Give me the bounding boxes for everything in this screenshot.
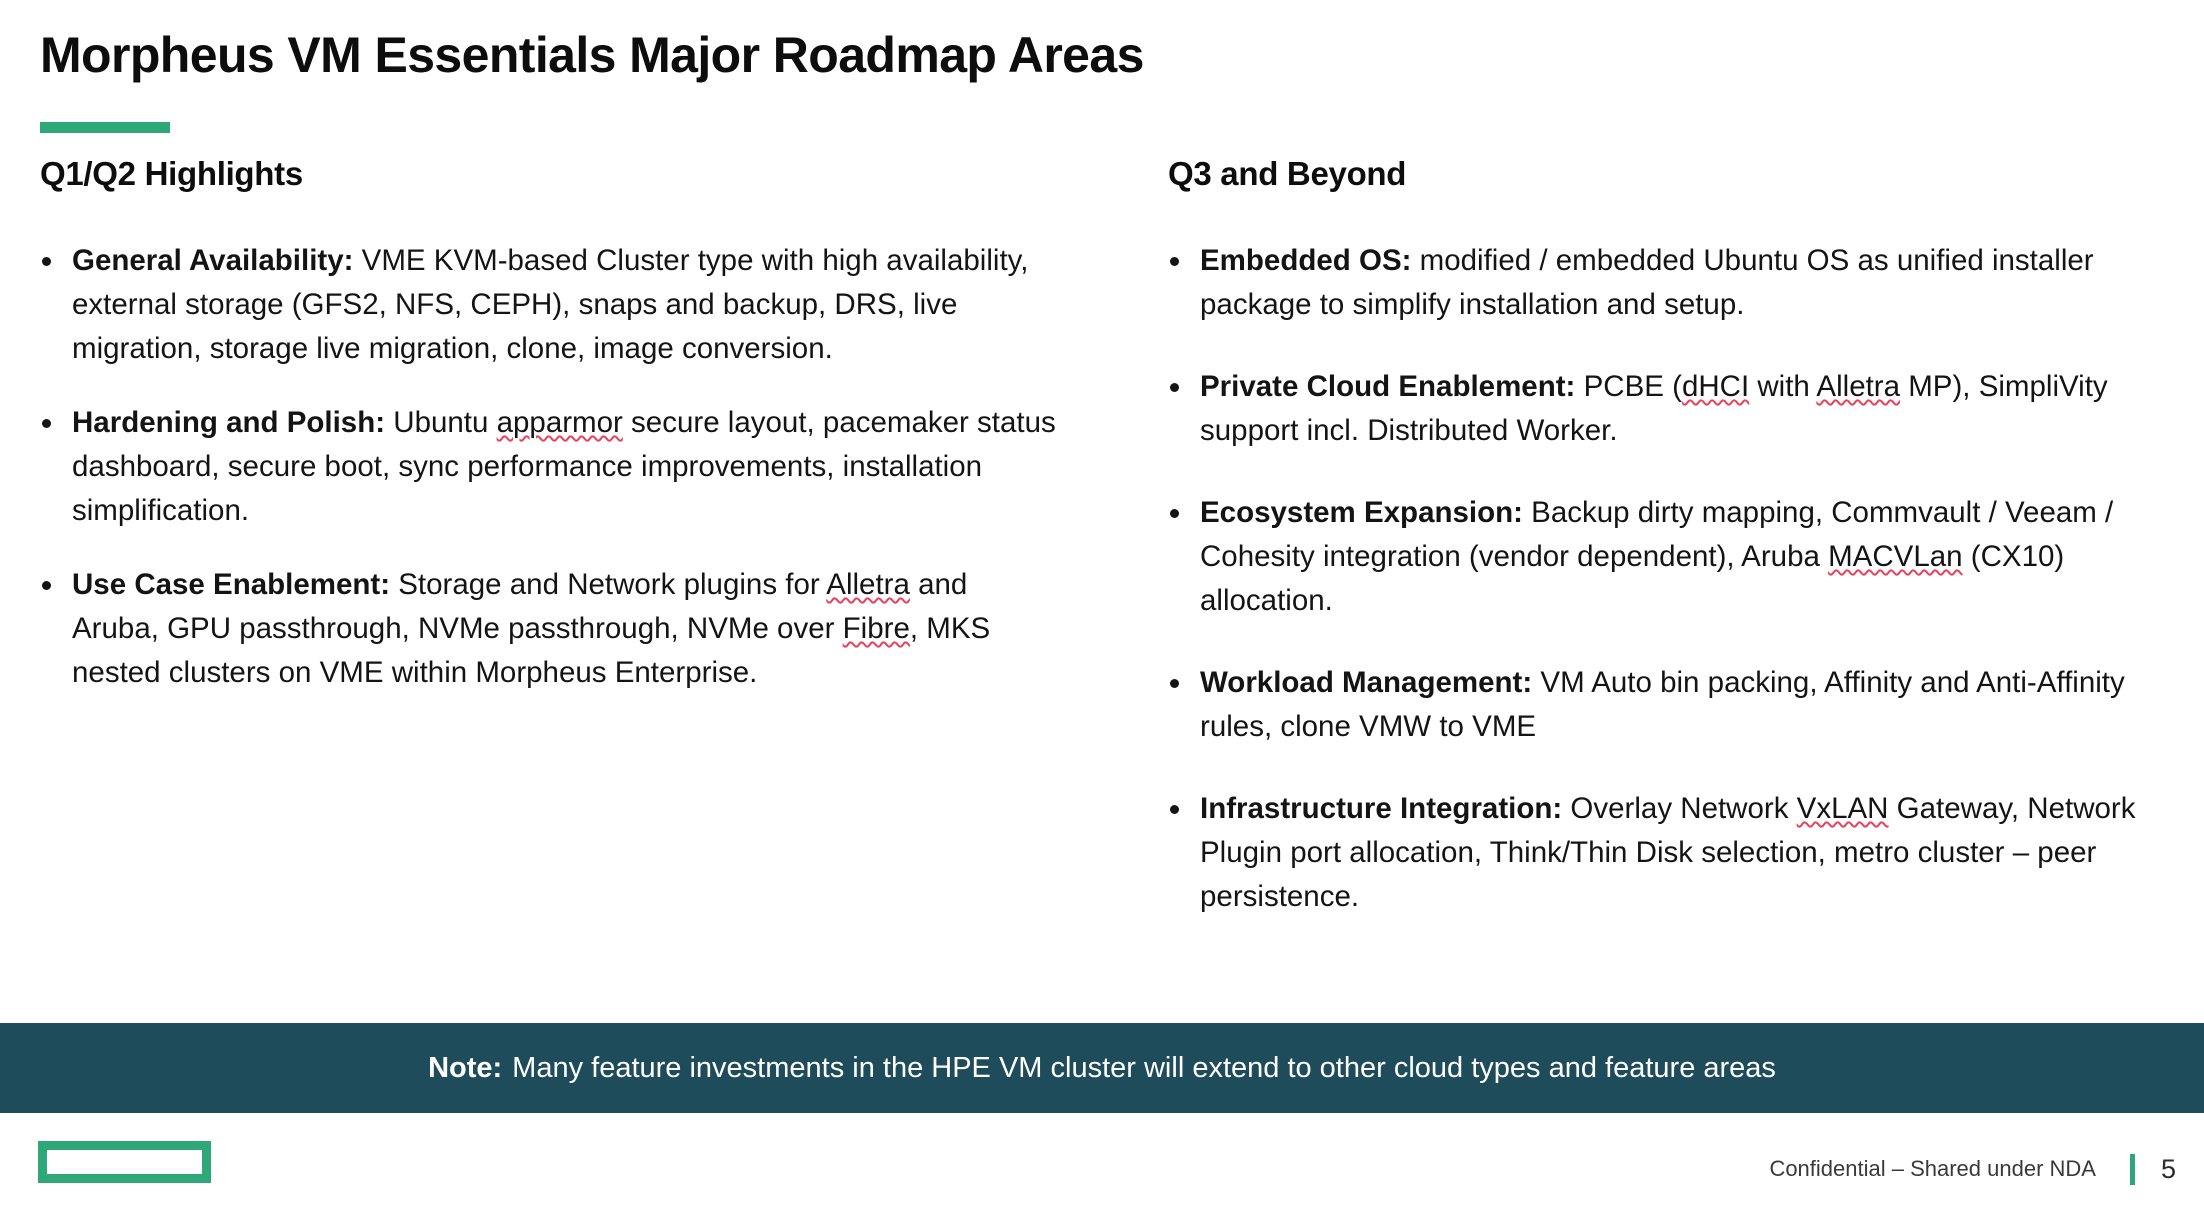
note-banner: Note:Many feature investments in the HPE… (0, 1023, 2204, 1113)
column-q3-beyond: Q3 and Beyond Embedded OS: modified / em… (1168, 155, 2178, 957)
column-q1-q2: Q1/Q2 Highlights General Availability: V… (40, 155, 1060, 725)
bullet-item: Infrastructure Integration: Overlay Netw… (1168, 787, 2178, 919)
spellcheck-word: MACVLan (1828, 540, 1962, 573)
bullet-lead: Use Case Enablement: (72, 568, 390, 601)
spellcheck-word: Alletra (1816, 370, 1900, 403)
bullet-item: Workload Management: VM Auto bin packing… (1168, 661, 2178, 749)
footer: Confidential – Shared under NDA 5 (1769, 1150, 2176, 1188)
page-title: Morpheus VM Essentials Major Roadmap Are… (40, 26, 1144, 84)
bullet-item: Ecosystem Expansion: Backup dirty mappin… (1168, 491, 2178, 623)
column-heading-left: Q1/Q2 Highlights (40, 155, 1060, 193)
note-text: Note:Many feature investments in the HPE… (428, 1052, 1776, 1085)
page-number: 5 (2161, 1154, 2176, 1185)
spellcheck-word: apparmor (497, 406, 623, 439)
title-accent-bar (40, 122, 170, 133)
bullet-lead: Workload Management: (1200, 666, 1532, 699)
confidentiality-notice: Confidential – Shared under NDA (1769, 1156, 2096, 1182)
bullet-item: General Availability: VME KVM-based Clus… (40, 239, 1060, 371)
bullet-lead: General Availability: (72, 244, 353, 277)
bullet-item: Embedded OS: modified / embedded Ubuntu … (1168, 239, 2178, 327)
spellcheck-word: Fibre (843, 612, 910, 645)
note-body: Many feature investments in the HPE VM c… (512, 1052, 1776, 1084)
bullet-lead: Ecosystem Expansion: (1200, 496, 1523, 529)
bullet-list-right: Embedded OS: modified / embedded Ubuntu … (1168, 239, 2178, 919)
bullet-lead: Infrastructure Integration: (1200, 792, 1562, 825)
spellcheck-word: VxLAN (1797, 792, 1889, 825)
bullet-item: Use Case Enablement: Storage and Network… (40, 563, 1060, 695)
bullet-list-left: General Availability: VME KVM-based Clus… (40, 239, 1060, 695)
column-heading-right: Q3 and Beyond (1168, 155, 2178, 193)
note-label: Note: (428, 1052, 502, 1084)
footer-divider (2130, 1154, 2135, 1185)
hpe-logo (38, 1141, 211, 1183)
spellcheck-word: Alletra (826, 568, 910, 601)
bullet-lead: Embedded OS: (1200, 244, 1411, 277)
spellcheck-word: dHCI (1682, 370, 1749, 403)
bullet-item: Hardening and Polish: Ubuntu apparmor se… (40, 401, 1060, 533)
bullet-lead: Private Cloud Enablement: (1200, 370, 1575, 403)
bullet-item: Private Cloud Enablement: PCBE (dHCI wit… (1168, 365, 2178, 453)
bullet-lead: Hardening and Polish: (72, 406, 385, 439)
